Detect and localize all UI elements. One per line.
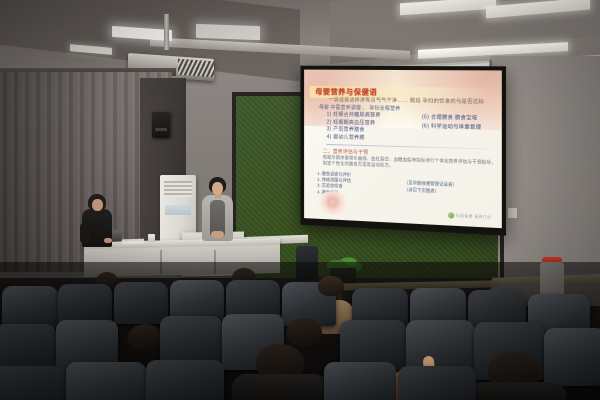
attendee-shoulders xyxy=(232,374,328,400)
slide-body-text: 根据孕期体重增长曲线、血红蛋白、血糖血脂等指标进行个体化营养评估与干预指导， 制… xyxy=(323,155,492,173)
presenter-left-face xyxy=(92,199,103,211)
projected-slide: 母婴营养与保健语 一说话是这样讲有点气气干净…… 概括 孕妇的饮食的与是否达标 … xyxy=(304,70,502,229)
wall-speaker-icon xyxy=(152,112,170,138)
slide-bullets-left: 1) 妊娠合并糖尿病营养 2) 妊娠期高血压营养 3) 产后营养膳食 4) 婴幼… xyxy=(327,112,381,143)
slide-logo: 妇幼保健 营养门诊 xyxy=(448,212,492,220)
auditorium-seat xyxy=(2,286,58,328)
auditorium-seat xyxy=(324,362,396,400)
wall-outlet xyxy=(507,207,518,219)
presentation-room-photo: 母婴营养与保健语 一说话是这样讲有点气气干净…… 概括 孕妇的饮食的与是否达标 … xyxy=(0,0,600,400)
air-conditioner-grill xyxy=(164,181,192,197)
air-conditioner-control-panel xyxy=(165,205,191,215)
attendee-head xyxy=(286,318,322,346)
attendee-shoulders xyxy=(466,382,566,400)
slide-footer-right: （见孕期体重管理记录表） （详见下页图表） xyxy=(404,180,457,195)
presenter-left-arm xyxy=(80,222,90,244)
auditorium-seat xyxy=(398,366,476,400)
slide-logo-text: 妇幼保健 营养门诊 xyxy=(456,213,491,220)
leaf-logo-icon xyxy=(448,212,454,218)
auditorium-seat xyxy=(114,282,168,324)
attendee-head xyxy=(128,324,162,350)
papers-on-desk xyxy=(122,239,144,245)
slide-bullets-right: (5) 合理膳食 膳食宝塔 (6) 科学运动与体重管理 xyxy=(422,113,481,132)
presenter-left-hand xyxy=(104,238,112,243)
mug-on-desk xyxy=(148,234,155,242)
auditorium-seat xyxy=(544,328,600,386)
attendee-head xyxy=(318,276,344,296)
ceiling-light xyxy=(196,24,260,40)
rose-decoration-icon xyxy=(317,190,349,215)
presenter-right-face xyxy=(212,182,223,195)
presenter-right-hands xyxy=(211,231,224,238)
projection-screen: 母婴营养与保健语 一说话是这样讲有点气气干净…… 概括 孕妇的饮食的与是否达标 … xyxy=(300,66,506,236)
auditorium-seat xyxy=(66,362,146,400)
projector-vent xyxy=(178,59,214,78)
auditorium-seat xyxy=(146,360,224,400)
auditorium-seat xyxy=(0,366,66,400)
